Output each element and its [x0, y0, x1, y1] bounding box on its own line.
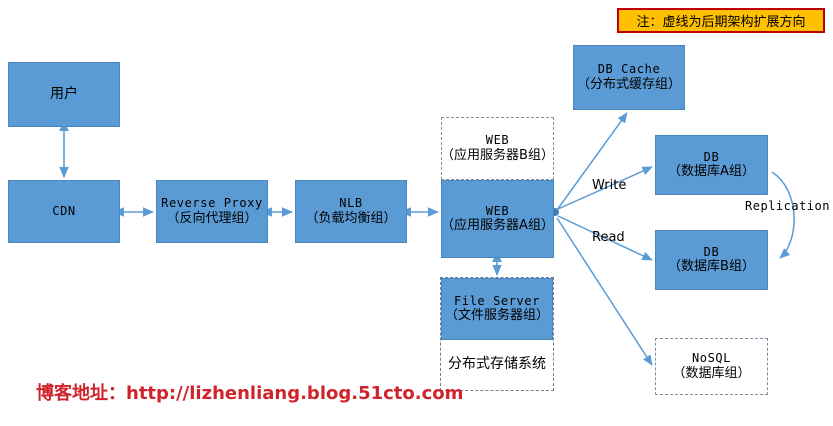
- note-banner-text: 注：虚线为后期架构扩展方向: [636, 11, 805, 30]
- note-banner: 注：虚线为后期架构扩展方向: [617, 8, 825, 33]
- edge-label-read: Read: [592, 230, 625, 245]
- node-user[interactable]: 用户: [8, 62, 120, 127]
- node-db-b[interactable]: DB （数据库B组）: [655, 230, 768, 290]
- architecture-diagram-canvas: 用户 CDN Reverse Proxy （反向代理组） NLB （负载均衡组）…: [0, 0, 833, 426]
- edge-label-replication: Replication: [745, 199, 830, 213]
- node-nlb-label-cn: （负载均衡组）: [305, 211, 396, 227]
- node-user-label-cn: 用户: [50, 86, 78, 103]
- node-web-a-label-en: WEB: [486, 204, 509, 219]
- node-file-server-label-en: File Server: [454, 294, 540, 309]
- node-web-a[interactable]: WEB （应用服务器A组）: [441, 180, 554, 258]
- node-nosql-label-en: NoSQL: [692, 351, 731, 366]
- node-db-b-label-en: DB: [704, 245, 720, 260]
- node-file-server[interactable]: File Server （文件服务器组）: [441, 278, 553, 340]
- node-web-a-label-cn: （应用服务器A组）: [441, 218, 554, 234]
- node-distributed-storage-label-cn: 分布式存储系统: [448, 356, 546, 373]
- node-nosql[interactable]: NoSQL （数据库组）: [655, 338, 768, 395]
- node-db-cache-label-cn: （分布式缓存组）: [577, 77, 681, 93]
- node-file-server-label-cn: （文件服务器组）: [445, 308, 549, 324]
- node-db-b-label-cn: （数据库B组）: [668, 259, 755, 275]
- node-nlb[interactable]: NLB （负载均衡组）: [295, 180, 407, 243]
- connector-web-a-db-cache: [557, 113, 627, 210]
- node-db-cache-label-en: DB Cache: [598, 62, 661, 77]
- node-web-b-label-en: WEB: [486, 133, 509, 148]
- connector-db-a-db-b-replication: [772, 172, 794, 258]
- node-reverse-proxy-label-en: Reverse Proxy: [161, 196, 263, 211]
- blog-watermark: 博客地址：http://lizhenliang.blog.51cto.com: [36, 379, 463, 405]
- node-nosql-label-cn: （数据库组）: [672, 366, 750, 382]
- node-reverse-proxy-label-cn: （反向代理组）: [166, 211, 257, 227]
- node-nlb-label-en: NLB: [339, 196, 362, 211]
- node-cdn[interactable]: CDN: [8, 180, 120, 243]
- node-db-cache[interactable]: DB Cache （分布式缓存组）: [573, 45, 685, 110]
- node-web-b[interactable]: WEB （应用服务器B组）: [441, 117, 554, 180]
- node-db-a-label-en: DB: [704, 150, 720, 165]
- node-db-a-label-cn: （数据库A组）: [668, 164, 755, 180]
- node-reverse-proxy[interactable]: Reverse Proxy （反向代理组）: [156, 180, 268, 243]
- edge-label-write: Write: [592, 178, 626, 193]
- node-cdn-label-en: CDN: [52, 204, 75, 219]
- node-db-a[interactable]: DB （数据库A组）: [655, 135, 768, 195]
- node-web-b-label-cn: （应用服务器B组）: [441, 148, 554, 164]
